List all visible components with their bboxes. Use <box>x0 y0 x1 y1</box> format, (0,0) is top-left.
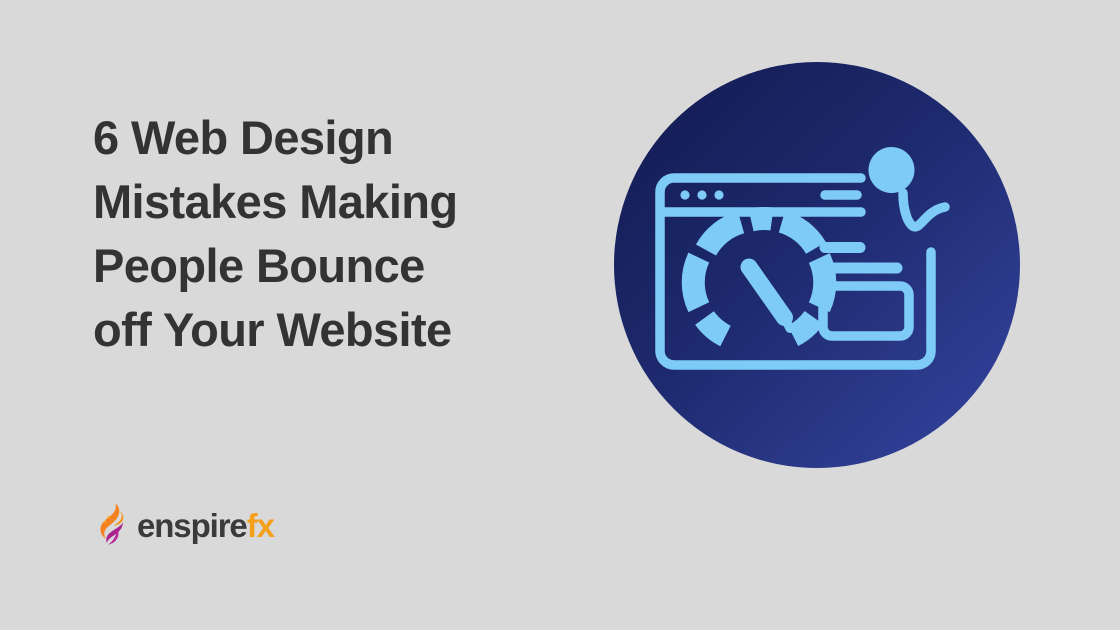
brand-logo[interactable]: enspirefx <box>93 500 274 548</box>
logo-wordmark-primary: enspire <box>137 507 247 544</box>
logo-wordmark-accent: fx <box>247 507 274 544</box>
website-speed-bounce-illustration <box>614 62 1020 468</box>
poster-canvas: 6 Web Design Mistakes Making People Boun… <box>0 0 1120 630</box>
logo-wordmark: enspirefx <box>137 509 274 542</box>
flame-icon <box>93 502 133 546</box>
page-title: 6 Web Design Mistakes Making People Boun… <box>93 106 573 362</box>
browser-dots <box>680 190 723 199</box>
bounce-ball <box>869 147 915 193</box>
